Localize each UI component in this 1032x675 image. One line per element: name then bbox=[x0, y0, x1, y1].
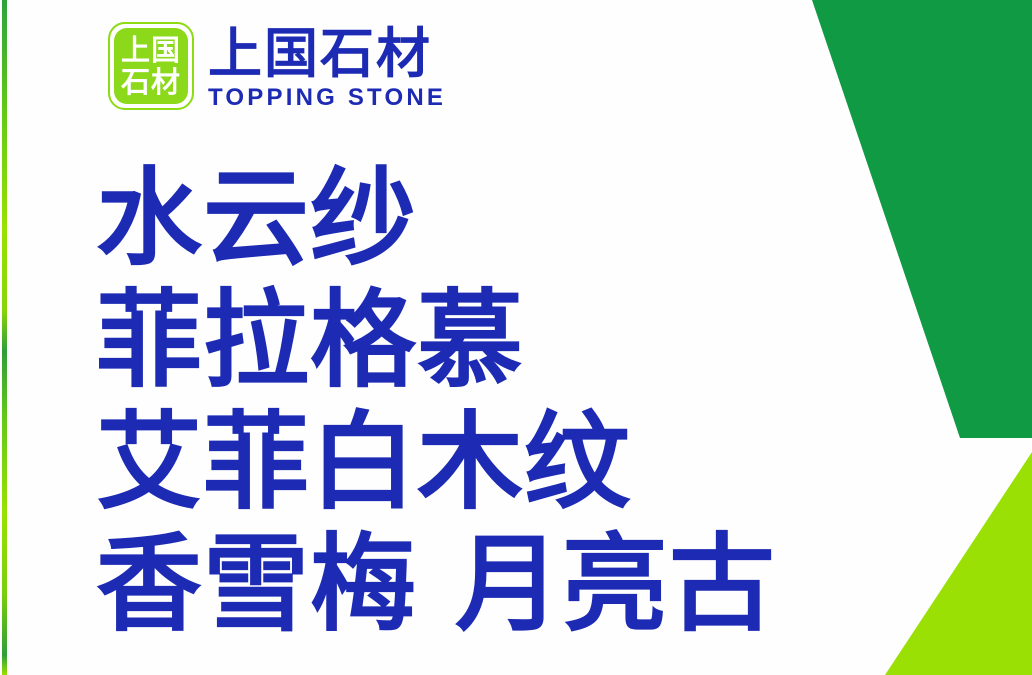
logo-mark-line-2: 石材 bbox=[121, 67, 181, 98]
left-edge-accent-strip bbox=[2, 0, 7, 675]
product-name-line: 水云纱 bbox=[96, 158, 916, 280]
brand-wordmark: 上国石材 TOPPING STONE bbox=[208, 22, 446, 111]
brand-logo-lockup: 上国 石材 上国石材 TOPPING STONE bbox=[108, 22, 446, 111]
product-name-line: 香雪梅 月亮古 bbox=[96, 524, 916, 646]
product-name-list: 水云纱 菲拉格慕 艾菲白木纹 香雪梅 月亮古 bbox=[96, 158, 916, 646]
logo-mark-icon: 上国 石材 bbox=[108, 22, 194, 110]
product-name-line: 菲拉格慕 bbox=[96, 280, 916, 402]
poster-canvas: 上国 石材 上国石材 TOPPING STONE 水云纱 菲拉格慕 艾菲白木纹 … bbox=[0, 0, 1032, 675]
brand-name-en: TOPPING STONE bbox=[208, 85, 446, 111]
logo-mark-line-1: 上国 bbox=[121, 35, 181, 66]
brand-name-cn: 上国石材 bbox=[208, 24, 446, 84]
product-name-line: 艾菲白木纹 bbox=[96, 402, 916, 524]
